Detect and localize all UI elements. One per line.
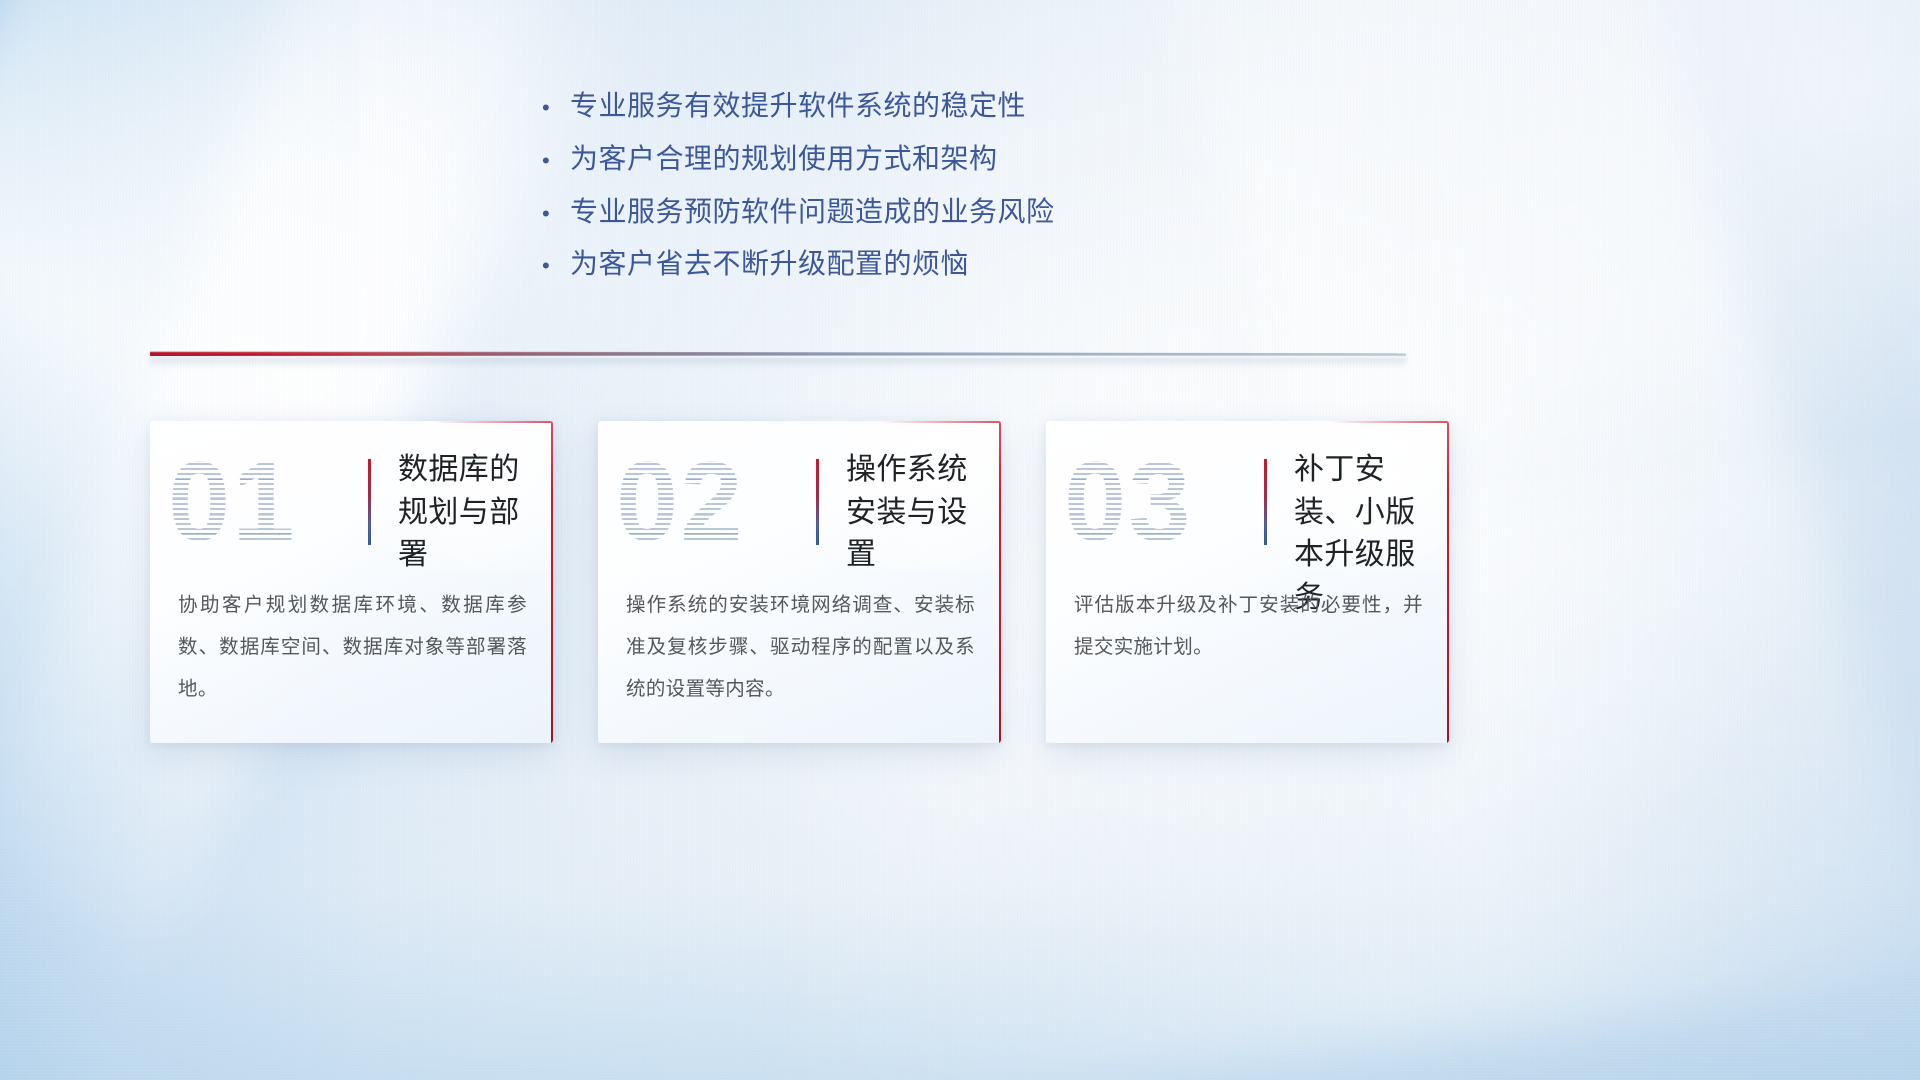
bullet-dot-icon: • bbox=[536, 150, 570, 172]
list-item: • 专业服务预防软件问题造成的业务风险 bbox=[536, 194, 1296, 230]
card-title-rule bbox=[1264, 459, 1267, 545]
card-title: 数据库的规划与部署 bbox=[398, 449, 544, 577]
card-number-watermark-tint: 03 bbox=[1064, 443, 1249, 561]
list-item: • 为客户合理的规划使用方式和架构 bbox=[536, 141, 1296, 177]
list-item-label: 为客户省去不断升级配置的烦恼 bbox=[570, 246, 969, 282]
card-body-text: 操作系统的安装环境网络调查、安装标准及复核步骤、驱动程序的配置以及系统的设置等内… bbox=[626, 585, 975, 711]
card-right-accent-bar bbox=[1447, 421, 1449, 743]
card-right-accent-bar bbox=[999, 421, 1001, 743]
bullet-dot-icon: • bbox=[536, 203, 570, 225]
background-tint-bottom bbox=[0, 750, 1920, 1080]
slide-stage: • 专业服务有效提升软件系统的稳定性 • 为客户合理的规划使用方式和架构 • 专… bbox=[0, 0, 1920, 1080]
list-item-label: 为客户合理的规划使用方式和架构 bbox=[570, 141, 998, 177]
benefits-list: • 专业服务有效提升软件系统的稳定性 • 为客户合理的规划使用方式和架构 • 专… bbox=[536, 88, 1296, 299]
bullet-dot-icon: • bbox=[536, 97, 570, 119]
service-card-group: 01 01 数据库的规划与部署 协助客户规划数据库环境、数据库参数、数据库空间、… bbox=[150, 421, 1450, 743]
card-body-text: 协助客户规划数据库环境、数据库参数、数据库空间、数据库对象等部署落地。 bbox=[178, 585, 527, 711]
divider-shadow bbox=[150, 357, 1406, 367]
list-item: • 专业服务有效提升软件系统的稳定性 bbox=[536, 88, 1296, 124]
card-right-accent-bar bbox=[551, 421, 553, 743]
card-title-rule bbox=[368, 459, 371, 545]
list-item: • 为客户省去不断升级配置的烦恼 bbox=[536, 246, 1296, 282]
service-card-02[interactable]: 02 02 操作系统安装与设置 操作系统的安装环境网络调查、安装标准及复核步骤、… bbox=[598, 421, 1001, 743]
service-card-01[interactable]: 01 01 数据库的规划与部署 协助客户规划数据库环境、数据库参数、数据库空间、… bbox=[150, 421, 553, 743]
list-item-label: 专业服务预防软件问题造成的业务风险 bbox=[570, 194, 1055, 230]
card-top-accent bbox=[433, 421, 553, 423]
list-item-label: 专业服务有效提升软件系统的稳定性 bbox=[570, 88, 1026, 124]
card-top-accent bbox=[1329, 421, 1449, 423]
card-body-text: 评估版本升级及补丁安装的必要性，并提交实施计划。 bbox=[1074, 585, 1423, 669]
card-title: 操作系统安装与设置 bbox=[846, 449, 992, 577]
card-number-watermark-tint: 02 bbox=[616, 443, 801, 561]
card-top-accent bbox=[881, 421, 1001, 423]
service-card-03[interactable]: 03 03 补丁安装、小版本升级服务 评估版本升级及补丁安装的必要性，并提交实施… bbox=[1046, 421, 1449, 743]
section-divider bbox=[150, 345, 1406, 367]
card-title-rule bbox=[816, 459, 819, 545]
bullet-dot-icon: • bbox=[536, 255, 570, 277]
card-number-watermark-tint: 01 bbox=[168, 443, 353, 561]
